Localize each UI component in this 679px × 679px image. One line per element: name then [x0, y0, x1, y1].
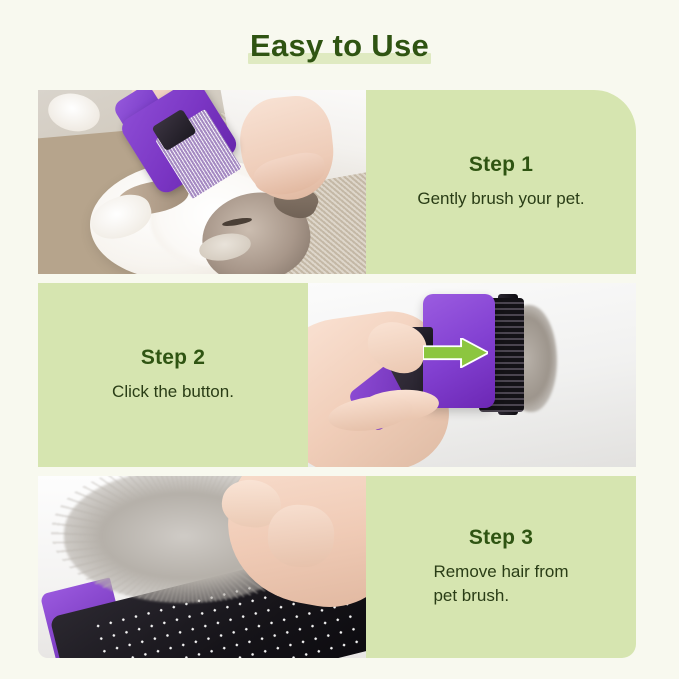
- step-row-1: Step 1 Gently brush your pet.: [38, 90, 636, 274]
- green-arrow-icon: [423, 338, 489, 367]
- step-3-description-line-1: Remove hair from: [433, 560, 568, 584]
- step-1-photo: [38, 90, 366, 274]
- step-1-text-block: Step 1 Gently brush your pet.: [401, 153, 600, 211]
- step-row-3: Step 3 Remove hair from pet brush.: [38, 476, 636, 658]
- step-1-panel: Step 1 Gently brush your pet.: [366, 90, 636, 274]
- step-2-text-block: Step 2 Click the button.: [96, 346, 250, 404]
- step-2-title: Step 2: [112, 346, 234, 370]
- page-title-text: Easy to Use: [250, 28, 429, 63]
- step-1-title: Step 1: [417, 153, 584, 177]
- step-3-text-block: Step 3 Remove hair from pet brush.: [417, 526, 584, 608]
- step-3-panel: Step 3 Remove hair from pet brush.: [366, 476, 636, 658]
- infographic-page: Easy to Use S: [0, 0, 679, 679]
- page-title: Easy to Use: [0, 24, 679, 68]
- step-3-title: Step 3: [433, 526, 568, 550]
- page-title-inner: Easy to Use: [244, 24, 435, 68]
- step-2-panel: Step 2 Click the button.: [38, 283, 308, 467]
- step-1-description: Gently brush your pet.: [417, 187, 584, 211]
- step-3-photo: [38, 476, 366, 658]
- step-2-photo: [308, 283, 636, 467]
- step-row-2: Step 2 Click the button.: [38, 283, 636, 467]
- step-3-description-line-2: pet brush.: [433, 584, 568, 608]
- step-2-description: Click the button.: [112, 380, 234, 404]
